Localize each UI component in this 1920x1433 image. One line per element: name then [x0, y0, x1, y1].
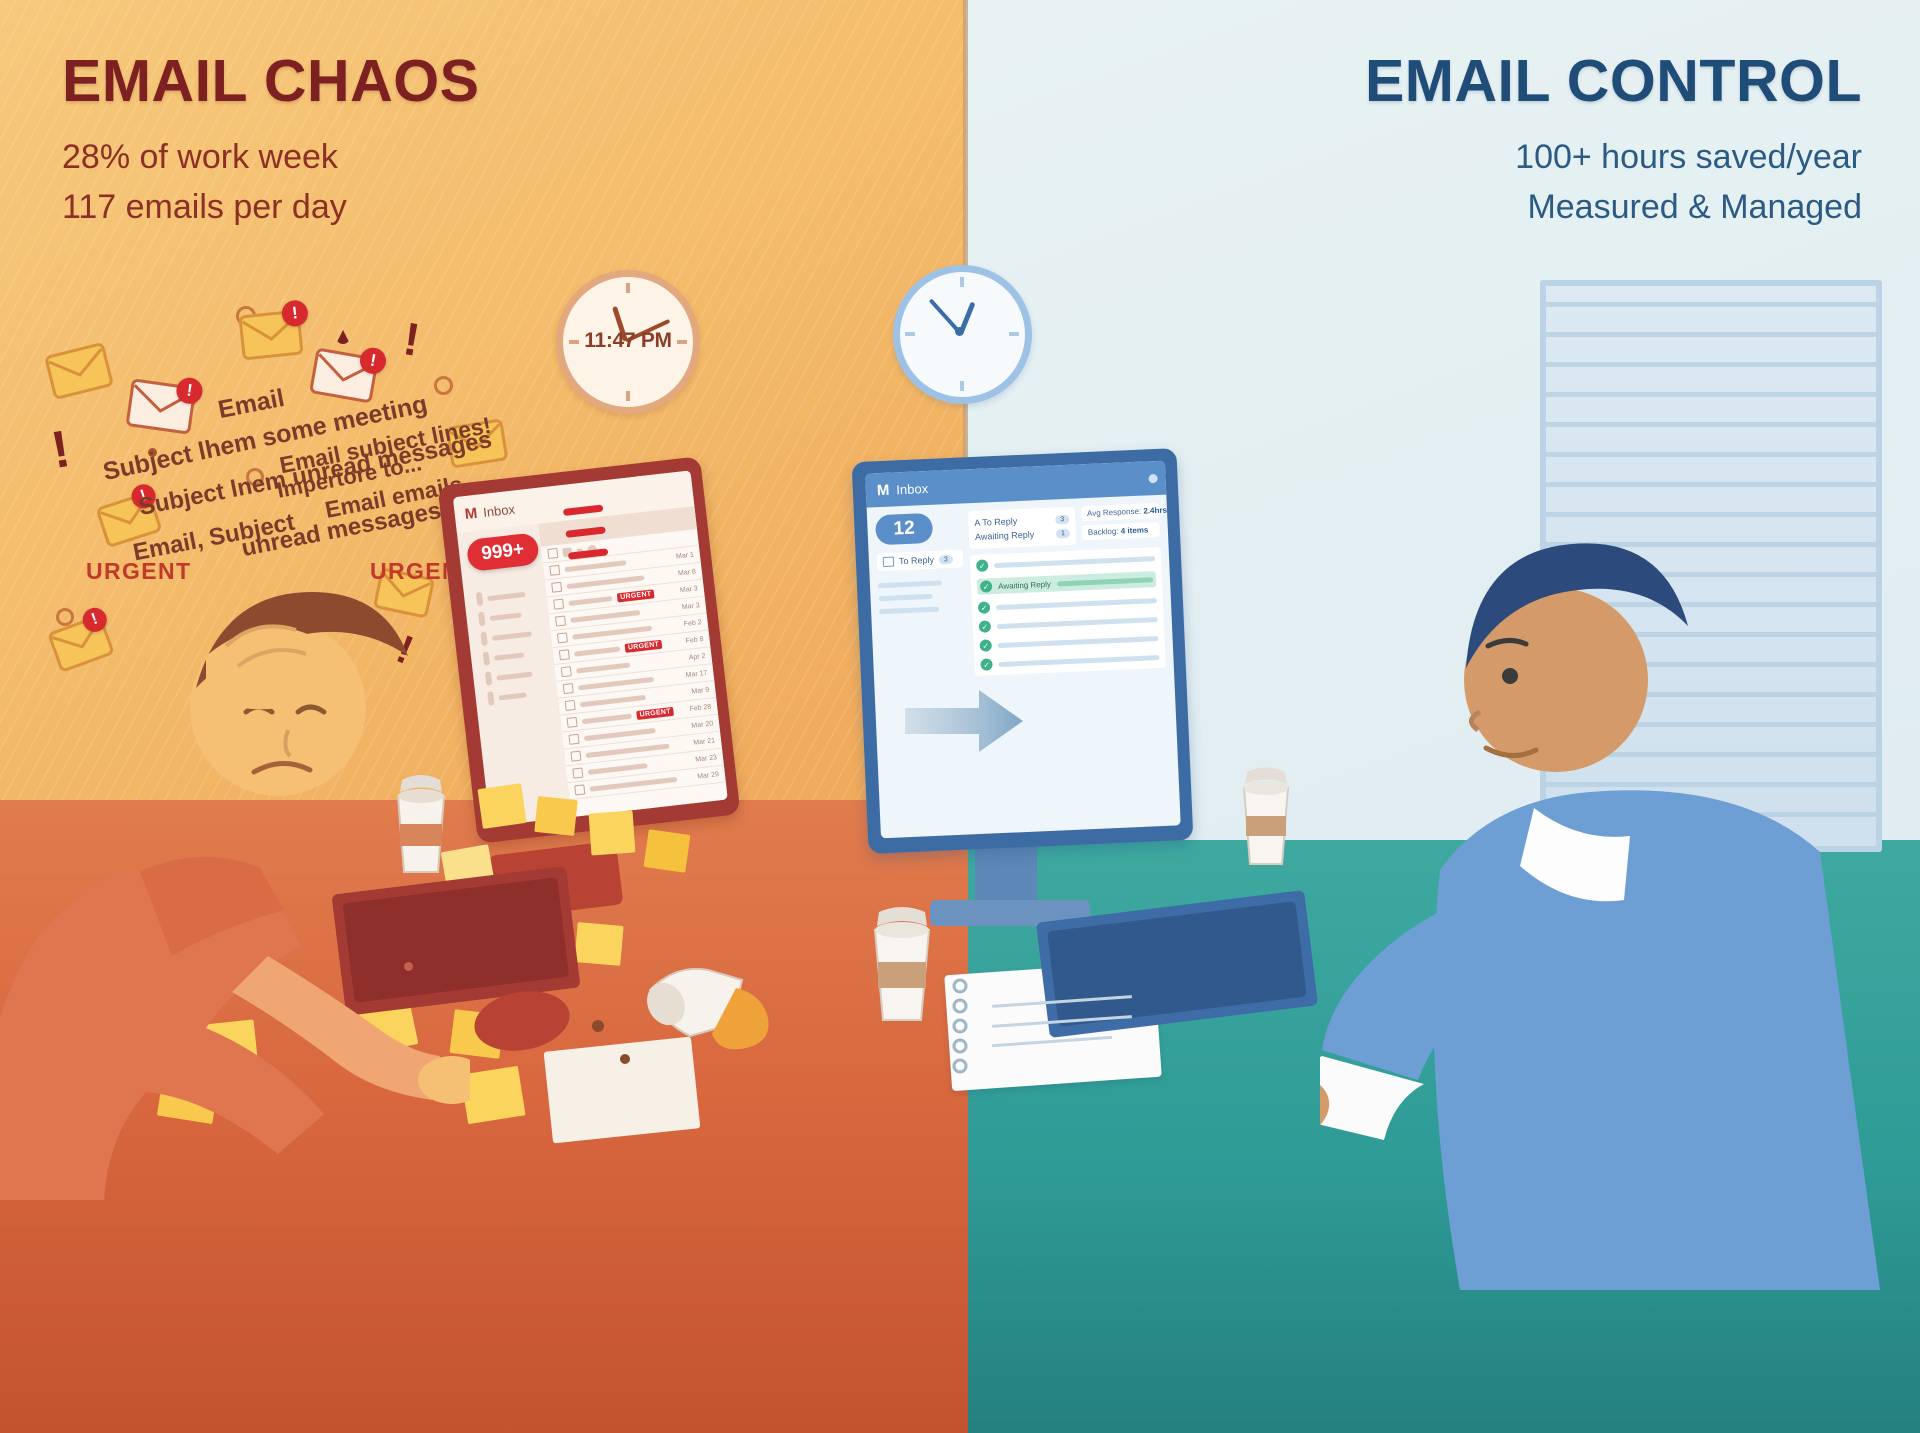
queue-label: A To Reply [974, 516, 1017, 528]
mail-logo-icon: M [464, 504, 478, 522]
right-sidebar: 12 To Reply 3 [875, 512, 977, 839]
sticky-note [574, 922, 623, 966]
right-stat-2: Measured & Managed [1365, 183, 1862, 231]
queue-label: Awaiting Reply [975, 529, 1035, 542]
calm-person [1320, 500, 1920, 1290]
stat-avg-response: Avg Response: 2.4hrs [1081, 503, 1160, 521]
status-dot [1148, 473, 1157, 482]
coffee-cup [866, 900, 938, 1031]
envelope-icon: ! [238, 309, 304, 361]
urgent-chip: URGENT [636, 706, 674, 719]
paper-sheet [544, 1037, 701, 1144]
sidebar-item-label: To Reply [899, 555, 934, 567]
left-stat-2: 117 emails per day [62, 183, 479, 231]
sticky-note [644, 829, 691, 872]
notepad-spiral [952, 976, 968, 1076]
queue-count: 3 [1055, 514, 1069, 524]
left-inbox-list[interactable]: Mar 1 Mar 8 URGENTMar 3 Mar 3 Feb 2 URGE… [538, 506, 727, 826]
sticky-note [534, 796, 578, 836]
inbox-icon [883, 557, 894, 567]
check-icon: ✓ [980, 580, 993, 593]
left-stat-1: 28% of work week [62, 133, 479, 181]
urgent-chip: URGENT [617, 589, 655, 602]
left-heading-block: EMAIL CHAOS 28% of work week 117 emails … [62, 52, 479, 232]
stressed-person [0, 560, 470, 1200]
check-icon: ✓ [978, 601, 991, 614]
highlight-row-label: Awaiting Reply [998, 579, 1051, 590]
right-monitor: M Inbox 12 To Reply 3 [852, 448, 1194, 854]
queue-count: 1 [1056, 528, 1070, 538]
check-icon: ✓ [980, 658, 993, 671]
infographic-scene: EMAIL CHAOS 28% of work week 117 emails … [0, 0, 1920, 1433]
sticky-note [589, 811, 636, 856]
left-monitor: M Inbox Mar 1 Mar 8 UR [437, 456, 740, 844]
right-mail-title: Inbox [896, 480, 928, 496]
check-icon: ✓ [979, 639, 992, 652]
right-stat-1: 100+ hours saved/year [1365, 133, 1862, 181]
sticky-note [460, 1066, 525, 1124]
inbox-count-badge: 12 [875, 513, 933, 545]
left-title: EMAIL CHAOS [62, 52, 479, 111]
sidebar-item-count: 3 [939, 554, 953, 564]
coffee-cup [1236, 762, 1296, 875]
mail-logo-icon: M [876, 481, 889, 499]
sidebar-item-to-reply[interactable]: To Reply 3 [877, 550, 964, 572]
left-mail-title: Inbox [482, 501, 515, 520]
clock-icon-night: 11:47 PM [556, 270, 700, 414]
queue-row[interactable]: Awaiting Reply 1 [975, 526, 1071, 544]
check-icon: ✓ [976, 559, 989, 572]
left-monitor-screen: M Inbox Mar 1 Mar 8 UR [453, 470, 728, 826]
sticky-note [477, 783, 526, 829]
stat-backlog: Backlog: 4 items [1082, 522, 1161, 540]
spilled-cup [644, 960, 774, 1052]
right-monitor-screen: M Inbox 12 To Reply 3 [865, 461, 1181, 839]
clock-icon-calm [893, 265, 1032, 404]
clock-time-label: 11:47 PM [563, 329, 693, 353]
urgent-chip: URGENT [624, 639, 662, 652]
arrow-right-icon [905, 688, 1023, 759]
right-title: EMAIL CONTROL [1365, 52, 1862, 111]
right-task-list[interactable]: A To Reply 3 Awaiting Reply 1 Avg Respon… [968, 503, 1175, 838]
check-icon: ✓ [979, 620, 992, 633]
envelope-icon: ! [125, 378, 197, 436]
right-heading-block: EMAIL CONTROL 100+ hours saved/year Meas… [1365, 52, 1862, 232]
